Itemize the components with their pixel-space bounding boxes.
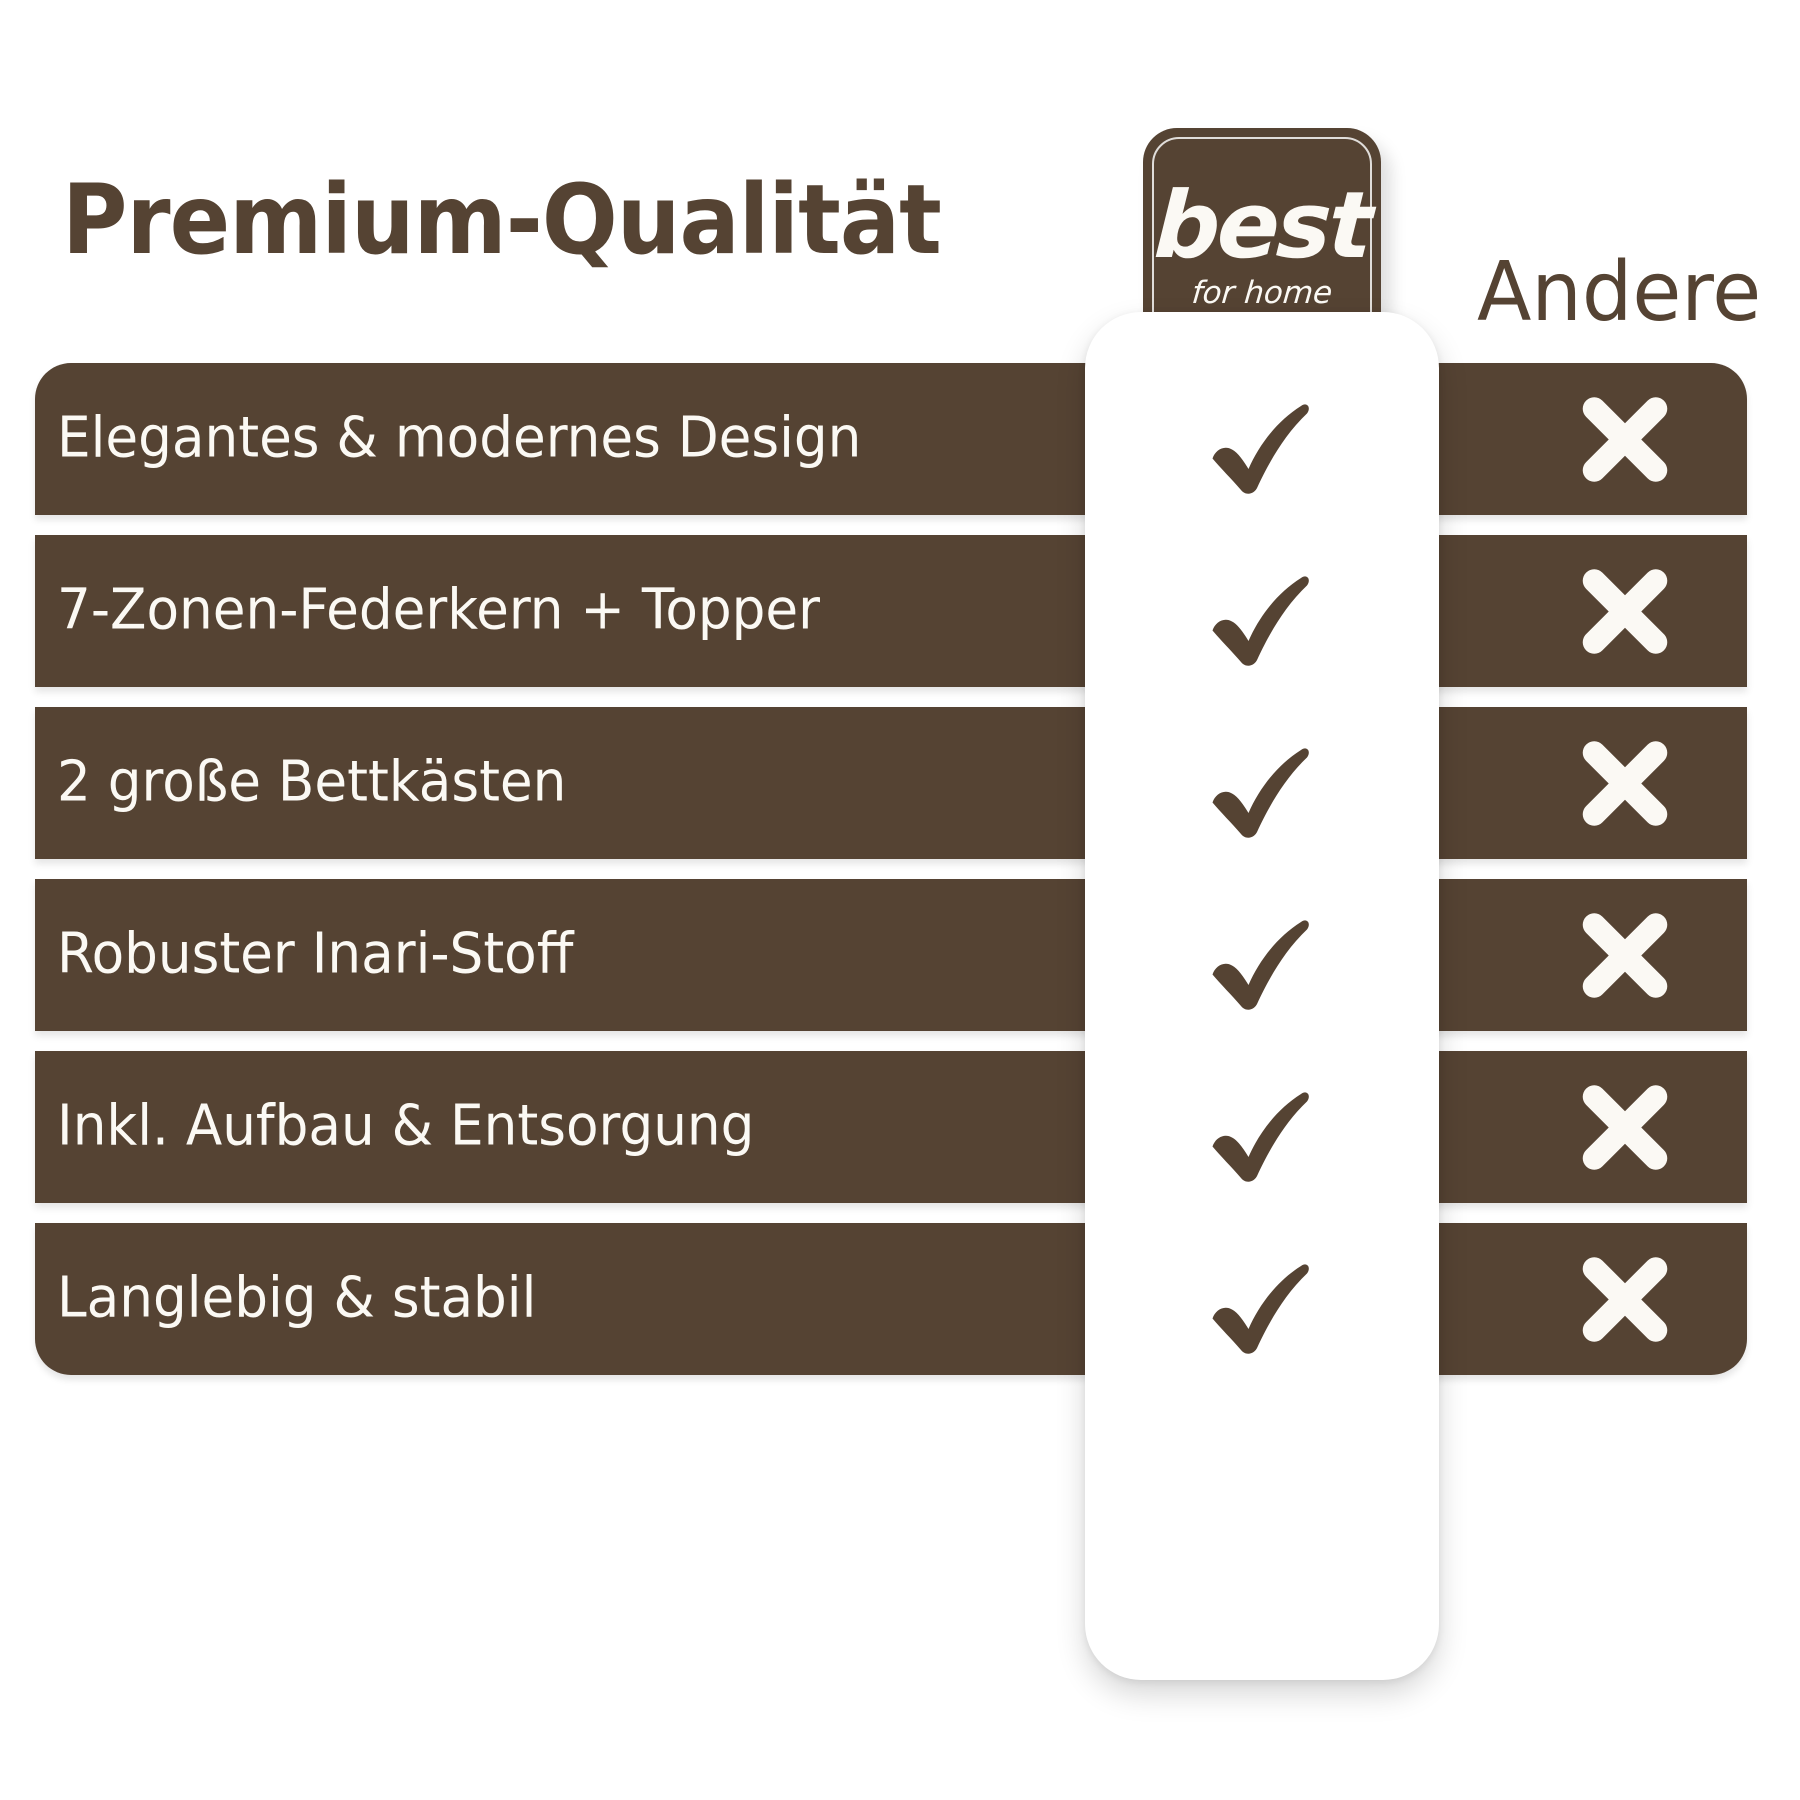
page-title: Premium-Qualität: [62, 172, 941, 268]
column-header-other: Andere: [1477, 252, 1761, 334]
check-icon: [1085, 879, 1439, 1031]
brand-check-column: [1085, 363, 1439, 1375]
feature-label: Inkl. Aufbau & Entsorgung: [57, 1098, 754, 1157]
cross-icon: [1577, 391, 1673, 487]
logo-wordmark: best: [1141, 180, 1384, 272]
table-row: Langlebig & stabil: [35, 1223, 1747, 1375]
table-row: Inkl. Aufbau & Entsorgung: [35, 1051, 1747, 1203]
feature-label: 7-Zonen-Federkern + Topper: [57, 582, 820, 641]
cross-icon: [1577, 1251, 1673, 1347]
feature-label: Robuster Inari-Stoff: [57, 926, 573, 985]
table-row: Robuster Inari-Stoff: [35, 879, 1747, 1031]
check-icon: [1085, 535, 1439, 687]
feature-rows: Elegantes & modernes Design7-Zonen-Feder…: [35, 363, 1747, 1375]
cross-icon: [1577, 563, 1673, 659]
cross-icon: [1577, 907, 1673, 1003]
feature-label: Elegantes & modernes Design: [57, 410, 861, 469]
check-icon: [1085, 1051, 1439, 1203]
logo-tagline: for home: [1142, 278, 1383, 309]
table-row: Elegantes & modernes Design: [35, 363, 1747, 515]
table-row: 2 große Bettkästen: [35, 707, 1747, 859]
check-icon: [1085, 707, 1439, 859]
feature-label: Langlebig & stabil: [57, 1270, 536, 1329]
check-icon: [1085, 1223, 1439, 1375]
check-icon: [1085, 363, 1439, 515]
infographic-canvas: Premium-Qualität best for home Andere El…: [0, 0, 1800, 1800]
feature-label: 2 große Bettkästen: [57, 754, 566, 813]
cross-icon: [1577, 735, 1673, 831]
table-row: 7-Zonen-Federkern + Topper: [35, 535, 1747, 687]
cross-icon: [1577, 1079, 1673, 1175]
